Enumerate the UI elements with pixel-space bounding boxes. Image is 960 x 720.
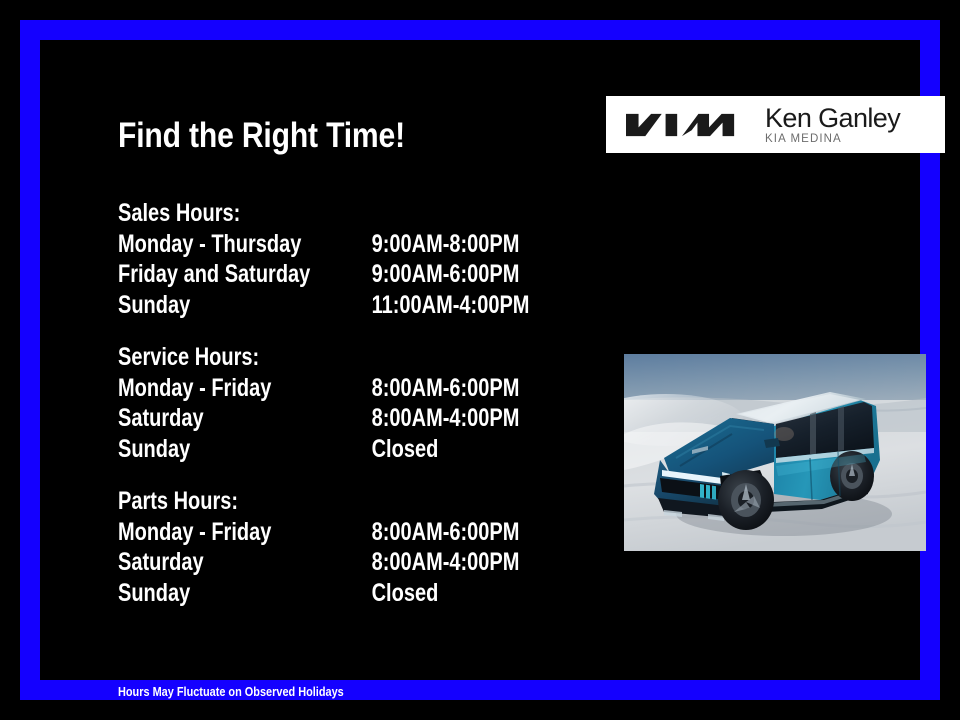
day-label: Monday - Friday: [118, 517, 372, 548]
time-value: 11:00AM-4:00PM: [372, 290, 530, 321]
section-heading-service: Service Hours:: [118, 342, 588, 373]
day-label: Monday - Friday: [118, 373, 372, 404]
hours-row: Sunday 11:00AM-4:00PM: [118, 290, 588, 321]
hours-row: Monday - Friday 8:00AM-6:00PM: [118, 373, 588, 404]
dealer-name-group: Ken Ganley KIA MEDINA: [765, 104, 900, 146]
day-label: Monday - Thursday: [118, 229, 372, 260]
time-value: 9:00AM-8:00PM: [372, 229, 520, 260]
hours-block-service: Service Hours: Monday - Friday 8:00AM-6:…: [118, 342, 588, 464]
hours-list: Sales Hours: Monday - Thursday 9:00AM-8:…: [118, 198, 588, 608]
page-title: Find the Right Time!: [118, 118, 405, 153]
dealer-logo-panel: Ken Ganley KIA MEDINA: [606, 96, 945, 153]
dealer-subname: KIA MEDINA: [765, 132, 900, 146]
time-value: 8:00AM-6:00PM: [372, 517, 520, 548]
day-label: Sunday: [118, 290, 372, 321]
slide-blue-border: Find the Right Time! Sales Hours: Monday…: [20, 20, 940, 700]
hours-row: Saturday 8:00AM-4:00PM: [118, 547, 588, 578]
hours-row: Monday - Thursday 9:00AM-8:00PM: [118, 229, 588, 260]
time-value: Closed: [372, 434, 439, 465]
day-label: Saturday: [118, 547, 372, 578]
day-label: Saturday: [118, 403, 372, 434]
time-value: 9:00AM-6:00PM: [372, 259, 520, 290]
hours-row: Friday and Saturday 9:00AM-6:00PM: [118, 259, 588, 290]
hours-row: Sunday Closed: [118, 578, 588, 609]
hours-row: Sunday Closed: [118, 434, 588, 465]
section-heading-sales: Sales Hours:: [118, 198, 588, 229]
kia-ev9-suv-photo: [624, 354, 926, 551]
hours-row: Saturday 8:00AM-4:00PM: [118, 403, 588, 434]
slide-canvas: Find the Right Time! Sales Hours: Monday…: [0, 0, 960, 720]
slide-content-area: Find the Right Time! Sales Hours: Monday…: [80, 80, 880, 640]
dealer-name: Ken Ganley: [765, 104, 900, 132]
kia-logo-icon: [623, 111, 741, 139]
time-value: Closed: [372, 578, 439, 609]
day-label: Sunday: [118, 434, 372, 465]
day-label: Friday and Saturday: [118, 259, 372, 290]
time-value: 8:00AM-4:00PM: [372, 547, 520, 578]
footer-note: Hours May Fluctuate on Observed Holidays: [118, 684, 344, 699]
section-heading-parts: Parts Hours:: [118, 486, 588, 517]
time-value: 8:00AM-6:00PM: [372, 373, 520, 404]
time-value: 8:00AM-4:00PM: [372, 403, 520, 434]
hours-row: Monday - Friday 8:00AM-6:00PM: [118, 517, 588, 548]
day-label: Sunday: [118, 578, 372, 609]
hours-block-sales: Sales Hours: Monday - Thursday 9:00AM-8:…: [118, 198, 588, 320]
hours-block-parts: Parts Hours: Monday - Friday 8:00AM-6:00…: [118, 486, 588, 608]
